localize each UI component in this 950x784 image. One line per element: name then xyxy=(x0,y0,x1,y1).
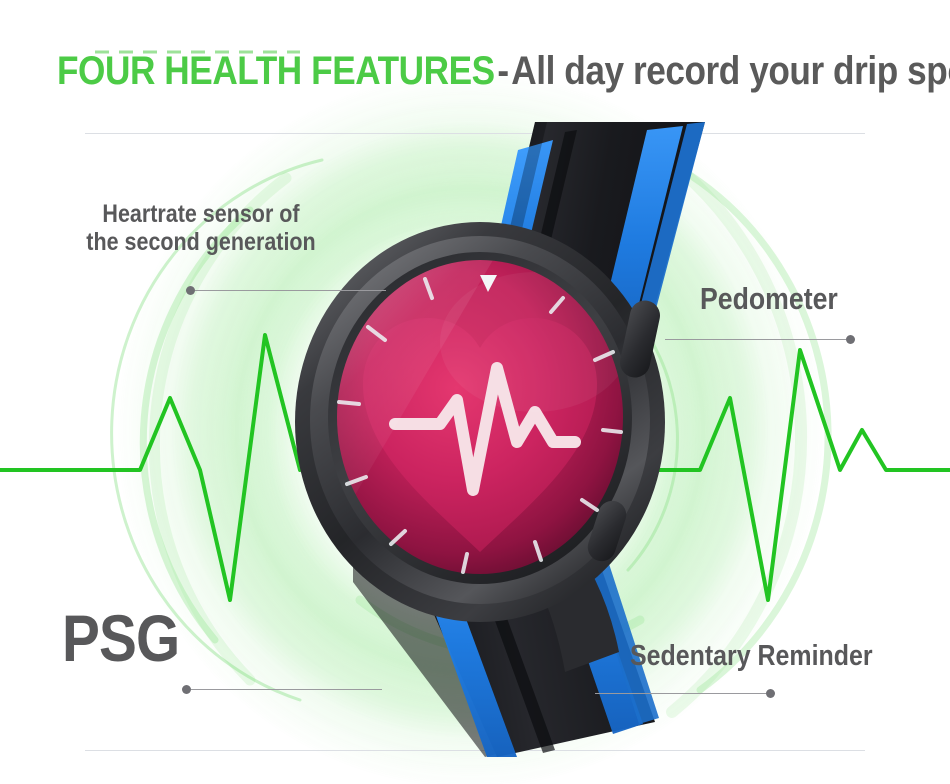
leader-dot xyxy=(766,689,775,698)
callout-sedentary: Sedentary Reminder xyxy=(630,640,940,672)
callout-sedentary-leader xyxy=(595,688,775,698)
leader-line xyxy=(195,290,386,291)
callout-psg: PSG xyxy=(62,602,362,676)
callout-heartrate-label: Heartrate sensor of the second generatio… xyxy=(59,200,343,256)
leader-line xyxy=(191,689,382,690)
callout-pedometer-leader xyxy=(665,334,855,344)
leader-line xyxy=(665,339,846,340)
page-title: FOUR HEALTH FEATURES-All day record your… xyxy=(57,48,893,94)
leader-dot xyxy=(182,685,191,694)
headline-rest: All day record your drip sport xyxy=(511,49,950,93)
callout-sedentary-label: Sedentary Reminder xyxy=(630,640,897,672)
callout-psg-label: PSG xyxy=(62,602,320,676)
leader-dot xyxy=(186,286,195,295)
headline-highlight: FOUR HEALTH FEATURES xyxy=(57,49,495,93)
callout-heartrate-line2: the second generation xyxy=(86,228,315,256)
callout-heartrate-line1: Heartrate sensor of xyxy=(102,200,299,228)
callout-pedometer-label: Pedometer xyxy=(700,282,898,317)
callout-heartrate-leader xyxy=(186,285,386,295)
headline-separator: - xyxy=(495,49,512,93)
callout-heartrate: Heartrate sensor of the second generatio… xyxy=(36,200,366,256)
product-banner: FOUR HEALTH FEATURES-All day record your… xyxy=(0,0,950,784)
leader-dot xyxy=(846,335,855,344)
callout-pedometer: Pedometer xyxy=(700,282,930,317)
leader-line xyxy=(595,693,766,694)
callout-psg-leader xyxy=(182,684,382,694)
